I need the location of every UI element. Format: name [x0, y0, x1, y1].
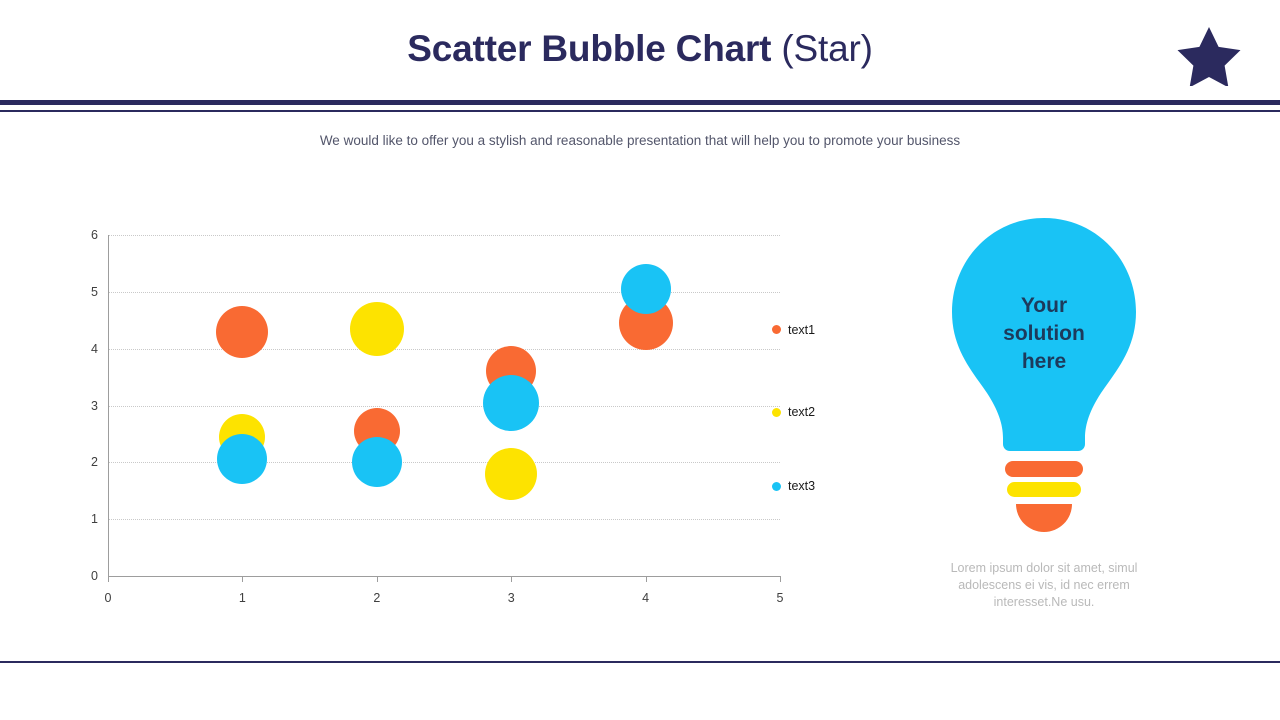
bubble-point: [352, 437, 402, 487]
x-axis-tickmark: [377, 576, 378, 582]
bubble-point: [217, 434, 267, 484]
x-axis-line: [108, 576, 780, 577]
page-title: Scatter Bubble Chart (Star): [0, 28, 1280, 70]
lightbulb-icon: [944, 216, 1144, 536]
y-axis-tick-label: 4: [74, 343, 98, 355]
legend-color-swatch: [772, 482, 781, 491]
bulb-band-orange: [1005, 461, 1083, 477]
y-axis-tick-label: 1: [74, 513, 98, 525]
gridline-horizontal: [108, 406, 780, 407]
gridline-horizontal: [108, 462, 780, 463]
bubble-point: [350, 302, 404, 356]
y-axis-tick-label: 2: [74, 456, 98, 468]
gridline-horizontal: [108, 349, 780, 350]
x-axis-tick-label: 2: [362, 591, 392, 605]
slide-header: Scatter Bubble Chart (Star): [0, 0, 1280, 102]
x-axis-tick-label: 4: [631, 591, 661, 605]
gridline-horizontal: [108, 519, 780, 520]
y-axis-tick-label: 3: [74, 400, 98, 412]
legend-color-swatch: [772, 408, 781, 417]
bubble-point: [216, 306, 268, 358]
legend-label: text3: [788, 479, 815, 493]
bulb-band-yellow: [1007, 482, 1081, 497]
y-axis-tick-label: 5: [74, 286, 98, 298]
bulb-base: [1016, 504, 1072, 532]
x-axis-tickmark: [108, 576, 109, 582]
gridline-horizontal: [108, 292, 780, 293]
legend-item-text3[interactable]: text3: [772, 479, 815, 493]
x-axis-tickmark: [646, 576, 647, 582]
x-axis-tickmark: [242, 576, 243, 582]
legend-label: text2: [788, 405, 815, 419]
bulb-panel: Your solution here Lorem ipsum dolor sit…: [920, 210, 1185, 620]
header-divider-thin: [0, 110, 1280, 112]
y-axis-tick-label: 6: [74, 229, 98, 241]
legend-item-text1[interactable]: text1: [772, 323, 815, 337]
legend-color-swatch: [772, 325, 781, 334]
bubble-point: [621, 264, 671, 314]
page-title-bold: Scatter Bubble Chart: [407, 28, 771, 69]
x-axis-tick-label: 3: [496, 591, 526, 605]
chart-legend: text1text2text3: [764, 225, 874, 615]
x-axis-tick-label: 0: [93, 591, 123, 605]
bulb-glass: [952, 218, 1136, 451]
gridline-horizontal: [108, 235, 780, 236]
bubble-point: [485, 448, 537, 500]
star-icon: [1176, 24, 1242, 86]
scatter-bubble-chart: 0123456012345: [60, 225, 820, 615]
footer-divider: [0, 661, 1280, 663]
x-axis-tick-label: 1: [227, 591, 257, 605]
header-divider-thick: [0, 100, 1280, 105]
y-axis-line: [108, 235, 109, 576]
page-title-light: (Star): [781, 28, 872, 69]
legend-label: text1: [788, 323, 815, 337]
subtitle-text: We would like to offer you a stylish and…: [0, 133, 1280, 148]
bubble-point: [483, 375, 539, 431]
bulb-caption: Lorem ipsum dolor sit amet, simul adoles…: [920, 560, 1168, 611]
x-axis-tickmark: [511, 576, 512, 582]
y-axis-tick-label: 0: [74, 570, 98, 582]
slide-root: Scatter Bubble Chart (Star) We would lik…: [0, 0, 1280, 720]
legend-item-text2[interactable]: text2: [772, 405, 815, 419]
